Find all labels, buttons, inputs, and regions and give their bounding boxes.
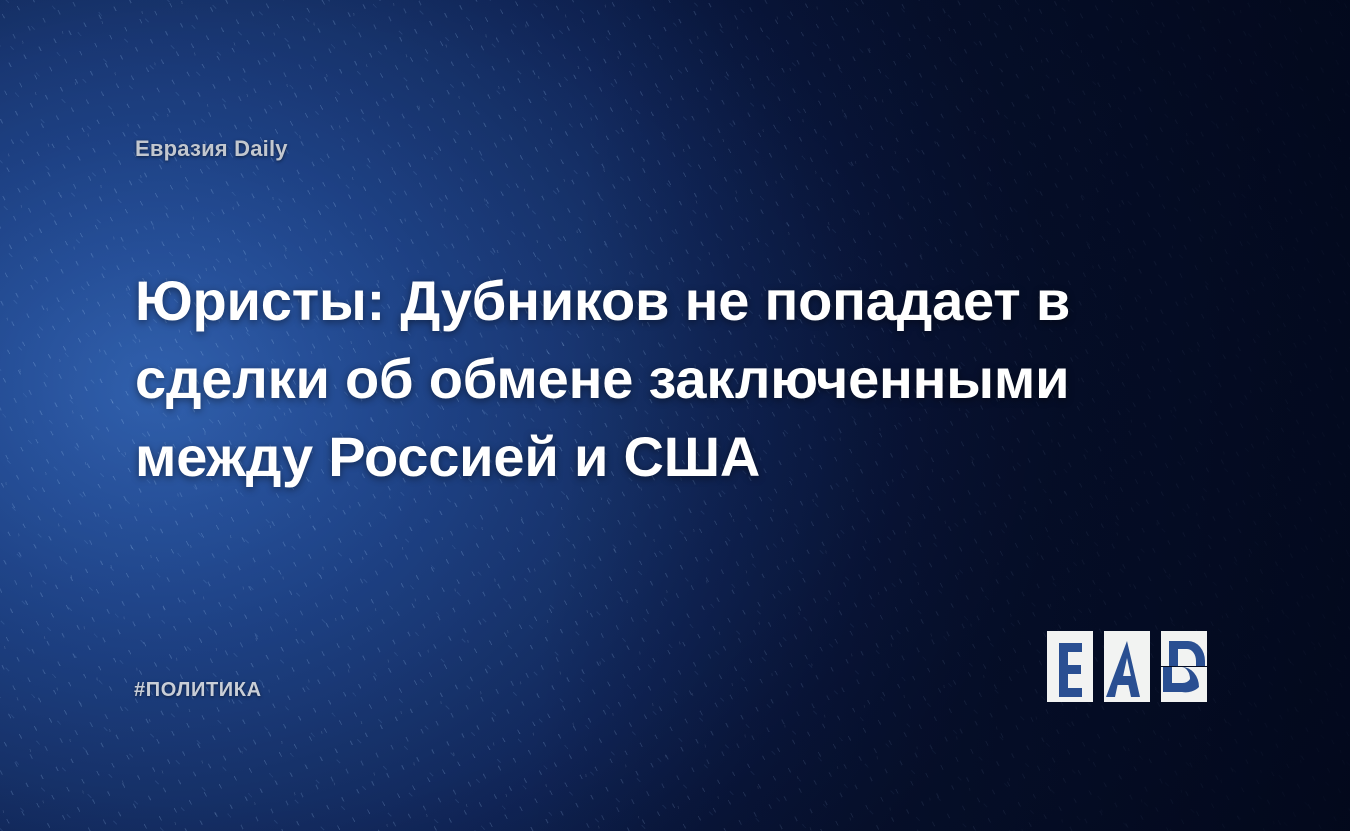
logo-d-upper-half [1161, 631, 1207, 666]
logo-tile-d-split [1161, 631, 1207, 702]
page-title: Юристы: Дубников не попадает в сделки об… [135, 262, 1135, 496]
logo-tile-e [1047, 631, 1093, 702]
logo-d-lower-half [1161, 667, 1207, 702]
logo-tile-a [1104, 631, 1150, 702]
news-share-card: Евразия Daily Юристы: Дубников не попада… [0, 0, 1350, 831]
publication-brand: Евразия Daily [135, 136, 288, 162]
category-hashtag: #ПОЛИТИКА [134, 679, 262, 702]
eadaily-logo [1047, 631, 1207, 702]
